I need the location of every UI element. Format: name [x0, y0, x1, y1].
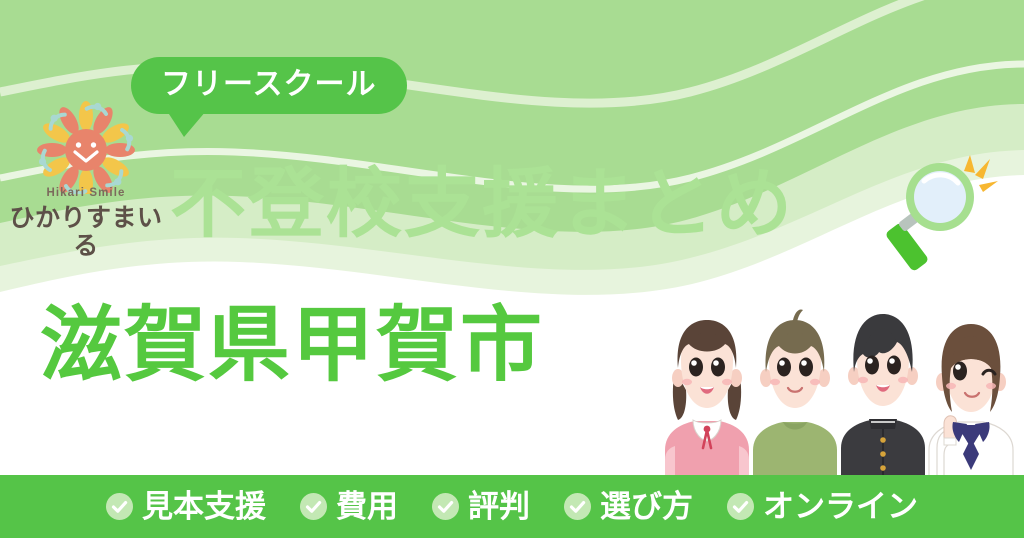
feature-label-3: 選び方	[600, 491, 693, 522]
category-badge[interactable]: フリースクール	[131, 57, 407, 114]
site-logo[interactable]: Hikari Smile ひかりすまいる	[6, 98, 166, 261]
character-girl-pink	[665, 320, 749, 480]
four-students-illustration	[645, 298, 1017, 480]
feature-bar: 見本支援 費用 評判 選び方	[0, 475, 1024, 538]
logo-japanese-name: ひかりすまいる	[6, 204, 166, 262]
banner-root: Hikari Smile ひかりすまいる フリースクール 不登校支援まとめ 滋賀…	[0, 0, 1024, 538]
badge-tail	[167, 111, 206, 137]
character-boy-green	[753, 309, 837, 480]
logo-english-name: Hikari Smile	[6, 188, 166, 200]
headline-primary: 不登校支援まとめ	[170, 167, 794, 243]
character-girl-sailor	[929, 324, 1013, 480]
feature-item-4[interactable]: オンライン	[727, 491, 918, 522]
feature-label-4: オンライン	[763, 491, 918, 522]
feature-item-1[interactable]: 費用	[300, 491, 398, 522]
check-circle-icon	[432, 493, 459, 520]
feature-label-0: 見本支援	[142, 491, 266, 522]
feature-label-1: 費用	[336, 491, 398, 522]
feature-label-2: 評判	[468, 491, 530, 522]
check-circle-icon	[300, 493, 327, 520]
feature-item-2[interactable]: 評判	[432, 491, 530, 522]
character-boy-gakuran	[841, 314, 925, 480]
category-badge-label: フリースクール	[131, 57, 407, 114]
feature-item-3[interactable]: 選び方	[564, 491, 693, 522]
magnifier-lens	[914, 171, 966, 223]
check-circle-icon	[106, 493, 133, 520]
check-circle-icon	[564, 493, 591, 520]
headline-location: 滋賀県甲賀市	[40, 305, 544, 387]
magnifying-glass-icon	[880, 145, 1000, 280]
check-circle-icon	[727, 493, 754, 520]
feature-item-0[interactable]: 見本支援	[106, 491, 266, 522]
